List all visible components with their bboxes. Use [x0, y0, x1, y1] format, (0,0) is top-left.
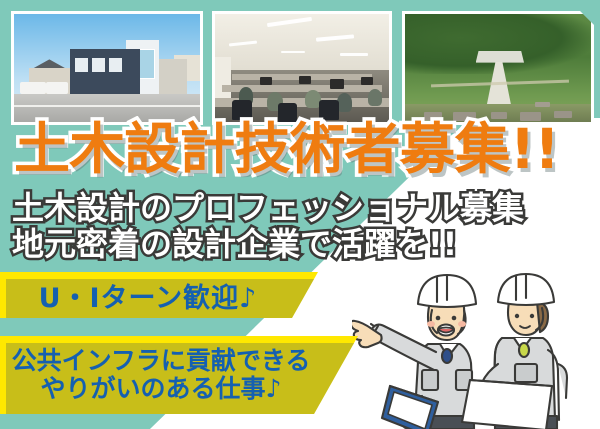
photo-civil-engineering-site [402, 11, 594, 125]
ribbon-u-i-turn: U・Iターン歓迎♪ [0, 272, 318, 318]
subheadline-line-2: 地元密着の設計企業で活躍を!! [12, 228, 457, 260]
recruitment-banner: 土木設計技術者募集!! 土木設計のプロフェッショナル募集 地元密着の設計企業で活… [0, 0, 600, 429]
ribbon-work-appeal: 公共インフラに貢献できる やりがいのある仕事♪ [0, 336, 358, 414]
photo-office-building-exterior [11, 11, 203, 125]
ribbon-work-appeal-line-1: 公共インフラに貢献できる [0, 347, 322, 375]
subheadline-line-1: 土木設計のプロフェッショナル募集 [12, 192, 524, 224]
main-headline: 土木設計技術者募集!! [14, 122, 559, 177]
illustration-two-construction-workers [352, 246, 600, 429]
ribbon-work-appeal-lines: 公共インフラに貢献できる やりがいのある仕事♪ [0, 347, 358, 403]
ribbon-u-i-turn-label: U・Iターン歓迎♪ [0, 276, 318, 315]
ribbon-work-appeal-line-2: やりがいのある仕事♪ [0, 375, 322, 403]
photo-office-interior [212, 11, 392, 125]
photo-strip [0, 0, 600, 130]
